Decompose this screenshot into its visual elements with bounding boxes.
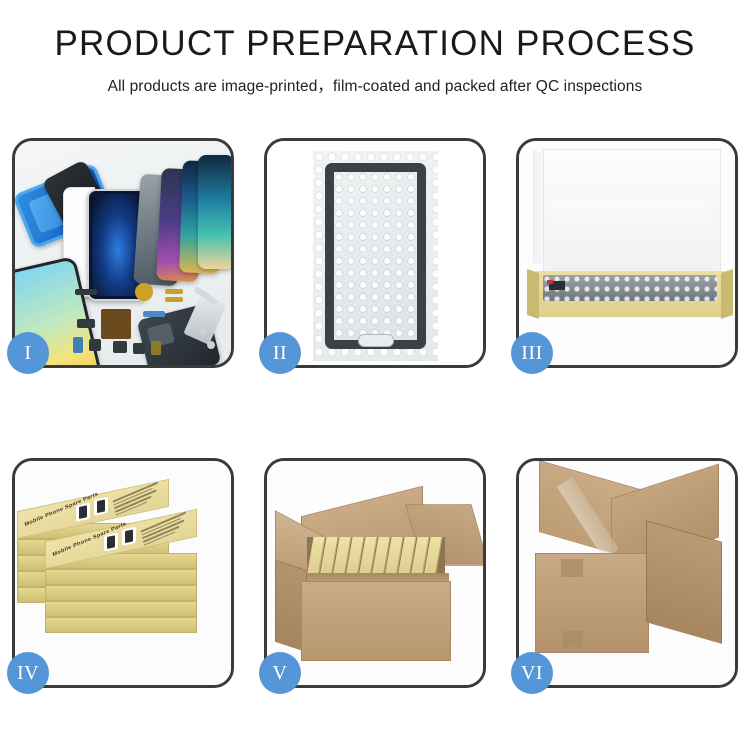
part-camera-module	[89, 339, 101, 351]
part-gold-contact	[151, 341, 161, 355]
carton-hand-hole	[561, 559, 583, 577]
part-flex-strip-2	[165, 297, 183, 302]
box-side-face	[45, 569, 197, 585]
box-phone-thumb-1	[104, 533, 118, 552]
foam-insert	[551, 199, 709, 275]
part-ribbon-cable	[77, 319, 95, 328]
page-header: PRODUCT PREPARATION PROCESS All products…	[0, 0, 750, 96]
box-spec-text	[113, 482, 162, 518]
part-screw-2	[207, 341, 215, 349]
page-subtitle: All products are image-printed，film-coat…	[0, 74, 750, 96]
step-1-image	[15, 141, 231, 365]
step-badge-2: II	[259, 332, 301, 374]
part-connector	[75, 289, 97, 295]
carton-front-face	[301, 581, 451, 661]
stacked-box-front: Mobile Phone Spare Parts	[45, 525, 197, 633]
process-step-panel-6: VI	[516, 458, 738, 688]
process-step-panel-4: Mobile Phone Spare Parts	[12, 458, 234, 688]
process-step-panel-2: II	[264, 138, 486, 368]
step-6-image	[519, 461, 735, 685]
box-side-face	[45, 601, 197, 617]
step-3-image	[519, 141, 735, 365]
part-blue-flex	[143, 311, 165, 317]
step-4-image: Mobile Phone Spare Parts	[15, 461, 231, 685]
kraft-box-tray	[535, 271, 725, 317]
step-2-image	[267, 141, 483, 365]
step-badge-1: I	[7, 332, 49, 374]
process-step-panel-5: V	[264, 458, 486, 688]
part-small-module-2	[133, 343, 145, 354]
process-step-grid: I II III Mobile Phone Spare Parts	[12, 138, 738, 688]
process-step-panel-3: III	[516, 138, 738, 368]
box-side-face	[45, 585, 197, 601]
box-phone-thumb-1	[76, 503, 90, 522]
carton-right-face	[646, 520, 722, 644]
phone-front-glass	[325, 163, 426, 349]
bubble-wrap-sheet	[313, 151, 438, 361]
step-badge-5: V	[259, 652, 301, 694]
box-side-face	[45, 617, 197, 633]
part-screw	[199, 327, 207, 335]
box-phone-thumb-2	[94, 497, 108, 516]
carton-hand-hole-2	[563, 631, 583, 647]
part-flex-strip	[165, 289, 183, 294]
part-small-module	[113, 341, 127, 353]
page-title: PRODUCT PREPARATION PROCESS	[0, 26, 750, 63]
step-badge-6: VI	[511, 652, 553, 694]
box-phone-thumb-2	[122, 527, 136, 546]
step-badge-3: III	[511, 332, 553, 374]
wrapped-screen-in-tray	[543, 275, 717, 301]
teal-gradient-screen-2	[198, 155, 231, 269]
carton-front-face	[535, 553, 649, 653]
part-chip-array	[101, 309, 131, 339]
step-badge-4: IV	[7, 652, 49, 694]
part-battery-cell	[73, 337, 83, 353]
part-speaker-coil	[135, 283, 153, 301]
step-5-image	[267, 461, 483, 685]
process-step-panel-1: I	[12, 138, 234, 368]
